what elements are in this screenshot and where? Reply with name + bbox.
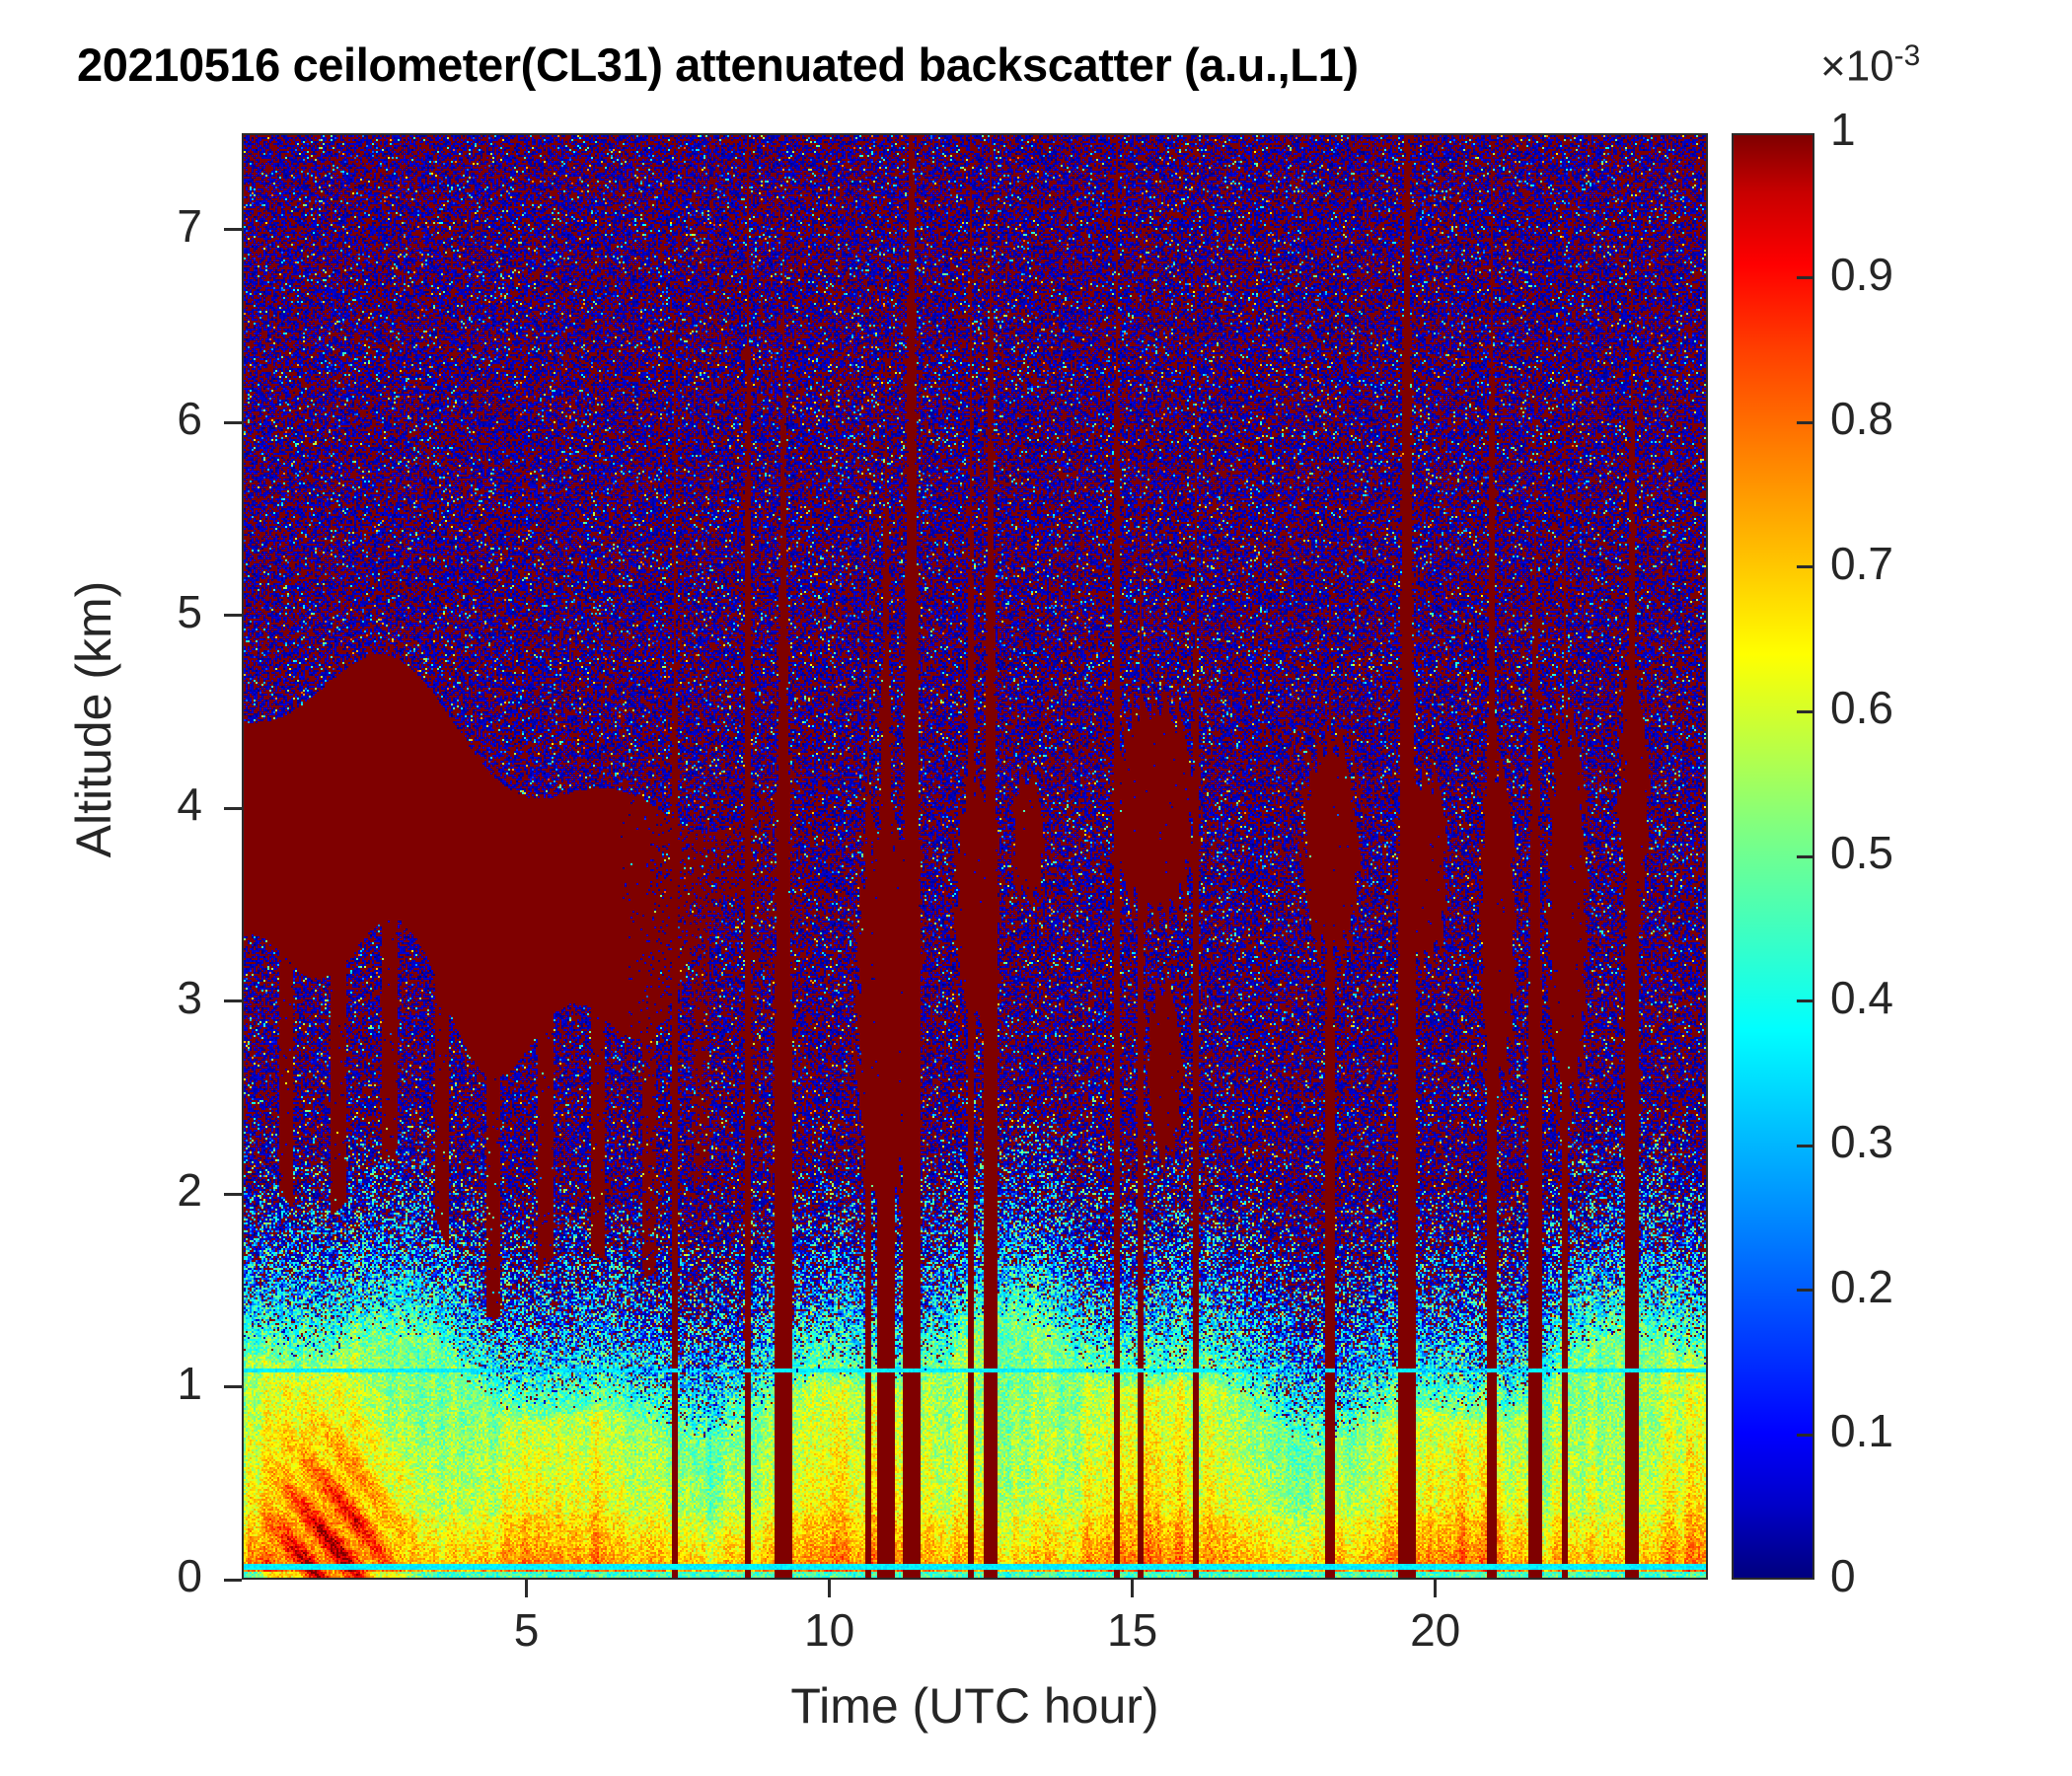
colorbar-tick-mark xyxy=(1797,1434,1814,1437)
x-tick-label: 5 xyxy=(448,1603,606,1657)
x-tick-mark xyxy=(828,1580,831,1597)
x-tick-label: 10 xyxy=(751,1603,909,1657)
y-tick-mark xyxy=(224,999,242,1002)
colorbar-tick-label: 0.5 xyxy=(1830,826,1893,879)
y-tick-label: 2 xyxy=(25,1163,202,1217)
y-tick-mark xyxy=(224,1193,242,1196)
colorbar-tick-mark xyxy=(1797,565,1814,568)
colorbar-tick-mark xyxy=(1797,855,1814,858)
x-tick-mark xyxy=(1434,1580,1437,1597)
colorbar-tick-label: 0.6 xyxy=(1830,681,1893,734)
x-tick-label: 15 xyxy=(1054,1603,1212,1657)
x-axis-label: Time (UTC hour) xyxy=(242,1677,1708,1735)
colorbar-tick-mark xyxy=(1797,276,1814,279)
colorbar-tick-label: 0.7 xyxy=(1830,537,1893,590)
colorbar-tick-label: 0.8 xyxy=(1830,392,1893,445)
y-tick-mark xyxy=(224,1385,242,1388)
ceilometer-backscatter-figure: 20210516 ceilometer(CL31) attenuated bac… xyxy=(0,0,2072,1776)
y-tick-mark xyxy=(224,614,242,617)
y-axis-label: Altitude (km) xyxy=(65,423,122,1015)
colorbar-tick-label: 1 xyxy=(1830,103,1856,156)
y-tick-mark xyxy=(224,807,242,810)
colorbar-tick-label: 0.1 xyxy=(1830,1404,1893,1457)
y-tick-mark xyxy=(224,421,242,424)
x-tick-label: 20 xyxy=(1357,1603,1515,1657)
colorbar-tick-mark xyxy=(1797,710,1814,713)
colorbar-tick-label: 0.3 xyxy=(1830,1115,1893,1168)
colorbar-tick-label: 0.2 xyxy=(1830,1260,1893,1313)
y-tick-mark xyxy=(224,228,242,231)
x-tick-mark xyxy=(1131,1580,1134,1597)
colorbar-tick-mark xyxy=(1797,421,1814,424)
y-tick-label: 1 xyxy=(25,1357,202,1410)
colorbar-exponent-base: ×10 xyxy=(1820,42,1894,91)
y-tick-mark xyxy=(224,1579,242,1582)
page-title: 20210516 ceilometer(CL31) attenuated bac… xyxy=(77,37,1359,92)
x-tick-mark xyxy=(525,1580,528,1597)
heatmap-plot-area xyxy=(242,133,1708,1580)
colorbar-tick-label: 0.9 xyxy=(1830,248,1893,301)
colorbar-tick-label: 0 xyxy=(1830,1549,1856,1602)
colorbar-tick-mark xyxy=(1797,1145,1814,1147)
colorbar-exponent-label: ×10-3 xyxy=(1820,39,1920,92)
y-tick-label: 7 xyxy=(25,199,202,253)
colorbar-exponent-power: -3 xyxy=(1894,39,1921,72)
colorbar-tick-label: 0.4 xyxy=(1830,971,1893,1024)
heatmap-image xyxy=(244,135,1708,1580)
colorbar-tick-mark xyxy=(1797,999,1814,1002)
y-tick-label: 0 xyxy=(25,1549,202,1602)
colorbar-tick-mark xyxy=(1797,1289,1814,1292)
